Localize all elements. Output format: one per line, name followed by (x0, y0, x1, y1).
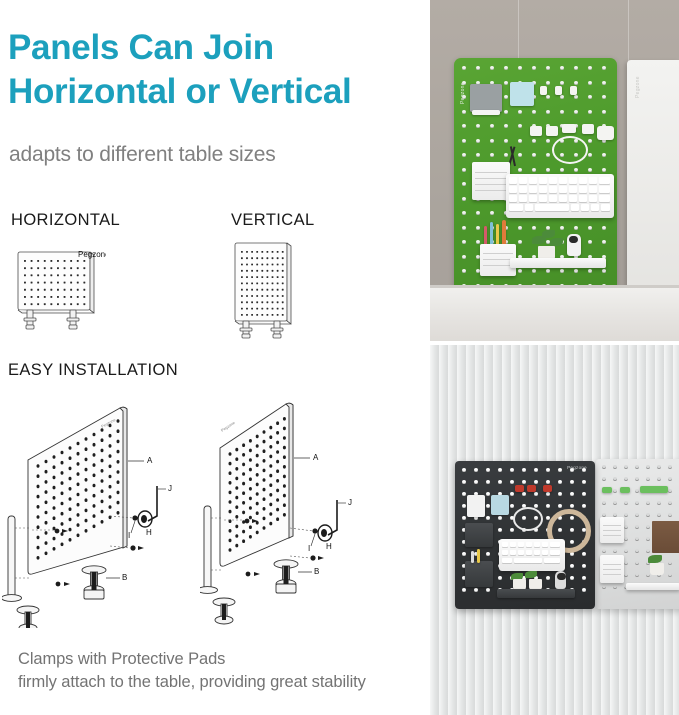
sticky-note (510, 82, 534, 106)
hook-icon (515, 485, 524, 492)
installation-diagram-horizontal: Pegzone A J H I (2, 388, 202, 628)
storage-basket (465, 523, 493, 547)
hook-icon (555, 86, 562, 95)
page-subtitle: adapts to different table sizes (9, 143, 276, 167)
cable-organizer (513, 507, 543, 531)
svg-text:H: H (146, 528, 152, 537)
pen-holder (465, 561, 493, 587)
hook-row (640, 486, 668, 493)
cable-organizer (552, 136, 588, 164)
section-label-horizontal: HORIZONTAL (11, 211, 120, 230)
svg-text:I: I (308, 544, 310, 553)
cable-clip (530, 126, 542, 136)
cable-clip (546, 126, 558, 136)
adjacent-white-panel: Pegzone (627, 60, 679, 312)
pen (477, 549, 480, 563)
svg-text:Pegzone: Pegzone (220, 420, 237, 433)
bottom-caption: Clamps with Protective Pads firmly attac… (18, 648, 366, 695)
plant-leaf (542, 230, 555, 238)
svg-text:J: J (348, 498, 352, 507)
hook-icon (602, 487, 612, 493)
shelf (497, 589, 575, 598)
cable-clip (562, 124, 576, 133)
hook-icon (540, 86, 547, 95)
svg-text:A: A (147, 456, 153, 465)
plant-leaf (648, 555, 662, 563)
infographic-page: Panels Can Join Horizontal or Vertical a… (0, 0, 679, 715)
pen-holder (600, 555, 624, 583)
photo-black-white-pegboards-desk: Pegzone (430, 345, 679, 715)
note-holder-lip (472, 110, 500, 115)
svg-text:B: B (314, 567, 319, 576)
cable-clip (582, 124, 594, 134)
black-pegboard: Pegzone (455, 461, 595, 609)
astronaut-figure (567, 234, 581, 256)
brand-logo: Pegzone (567, 465, 587, 470)
svg-text:I: I (128, 531, 130, 540)
svg-text:J: J (168, 484, 172, 493)
plant-pot (650, 563, 664, 575)
white-pegboard (596, 459, 679, 609)
right-photo-column: Pegzone Pegzone (430, 0, 679, 715)
storage-basket (600, 517, 624, 543)
brand-logo: Pegzone (460, 82, 466, 104)
note-holder (470, 84, 502, 112)
svg-text:Pegzone: Pegzone (78, 250, 106, 259)
hook-icon (620, 487, 630, 493)
shelf (626, 583, 679, 590)
green-pegboard: Pegzone (454, 58, 617, 305)
astronaut-figure (555, 571, 566, 589)
caption-line-1: Clamps with Protective Pads (18, 648, 366, 671)
svg-text:H: H (326, 542, 332, 551)
caption-line-2: firmly attach to the table, providing gr… (18, 671, 366, 694)
svg-text:B: B (122, 573, 127, 582)
desk-surface (430, 285, 679, 341)
headline-line-2: Horizontal or Vertical (8, 70, 420, 114)
keyboard (506, 174, 614, 218)
horizontal-panel-diagram: Pegzone (14, 248, 106, 336)
plant-leaf (550, 238, 563, 246)
storage-basket (472, 162, 510, 200)
hook-icon (570, 86, 577, 95)
page-title: Panels Can Join Horizontal or Vertical (8, 26, 420, 115)
section-label-vertical: VERTICAL (231, 211, 315, 230)
pen (471, 551, 474, 563)
photo-green-pegboard-desk: Pegzone Pegzone (430, 0, 679, 341)
book (652, 521, 679, 553)
phone-holder (597, 126, 614, 140)
vertical-panel-diagram (229, 239, 321, 339)
headline-line-1: Panels Can Join (8, 28, 274, 67)
photo-clip (467, 495, 485, 517)
brand-logo: Pegzone (635, 76, 641, 98)
installation-diagram-vertical: Pegzone A J H I (200, 388, 400, 628)
hook-icon (527, 485, 536, 492)
shelf (510, 258, 606, 268)
plant-leaf (525, 571, 537, 578)
keyboard (499, 539, 565, 571)
hook-icon (543, 485, 552, 492)
left-content-column: Panels Can Join Horizontal or Vertical a… (0, 0, 430, 715)
desk-edge (430, 285, 679, 288)
svg-text:A: A (313, 453, 319, 462)
photo-clip (491, 495, 509, 515)
section-label-easy-installation: EASY INSTALLATION (8, 361, 178, 380)
